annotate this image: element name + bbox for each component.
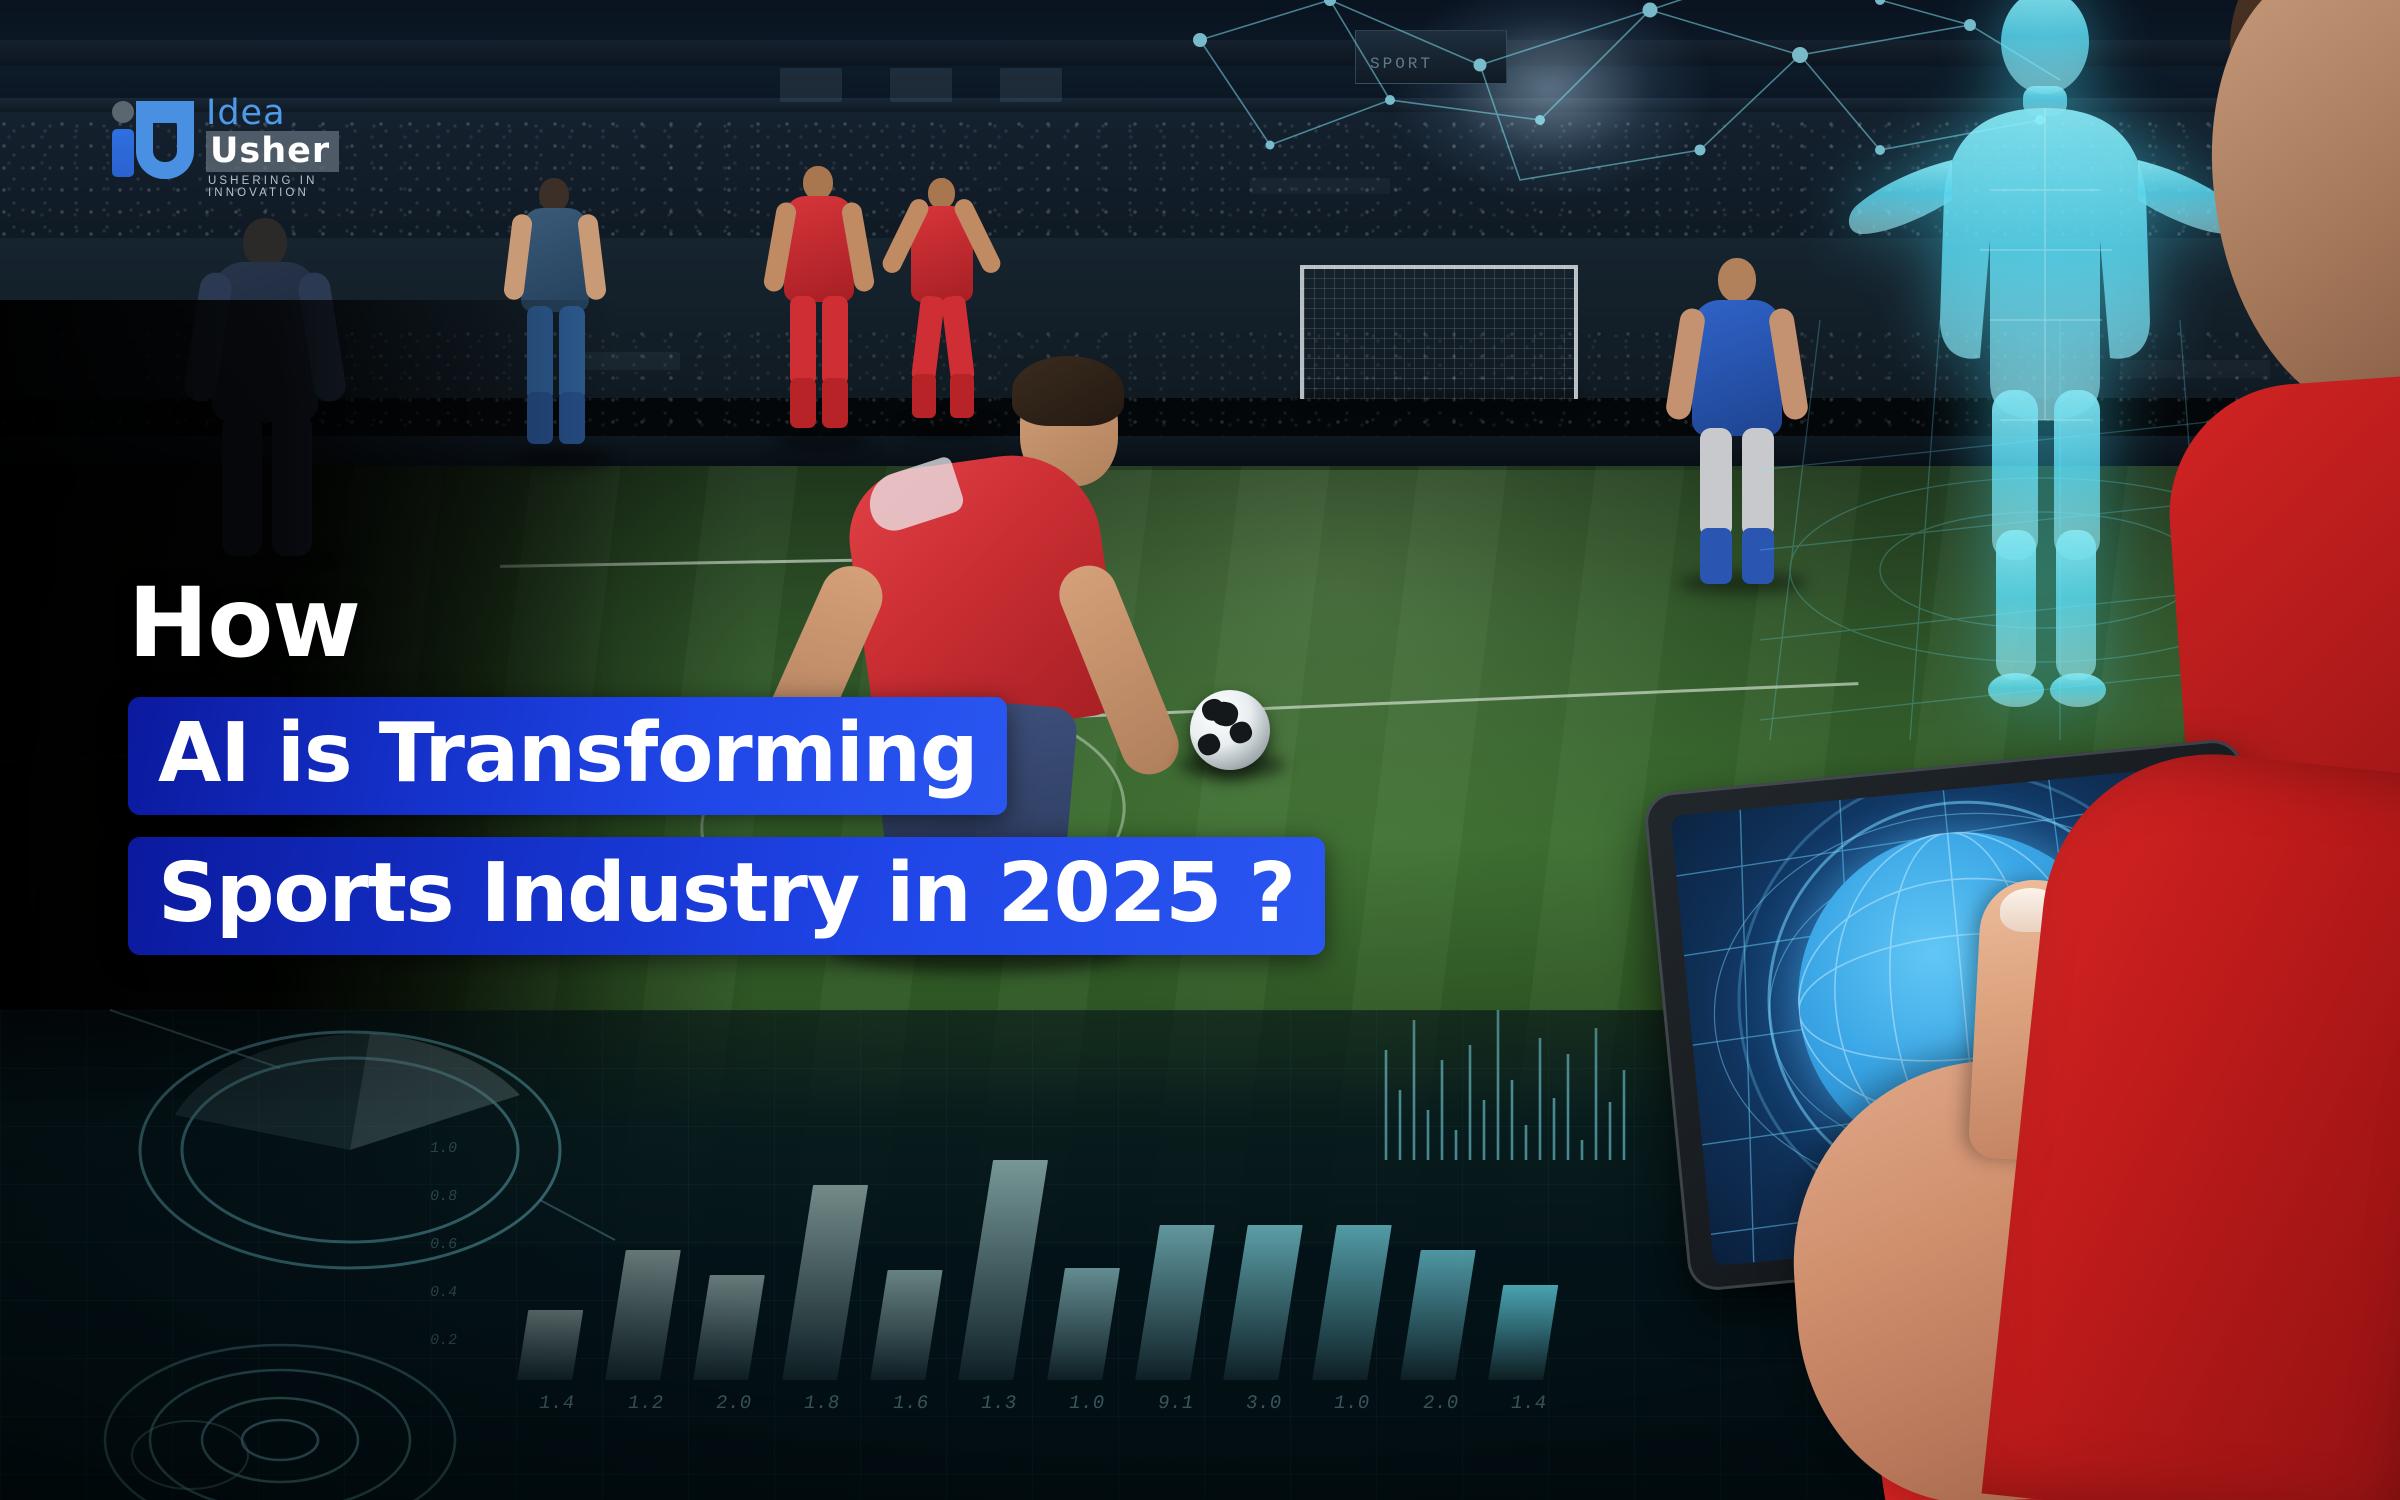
brand-logo[interactable]: Idea Usher USHERING IN INNOVATION xyxy=(110,95,380,177)
logo-i-stem xyxy=(112,129,134,177)
stand-sign-b xyxy=(890,68,952,102)
stand-sign-a xyxy=(780,68,842,102)
stand-sign-c xyxy=(1000,68,1062,102)
headline-line-1: How xyxy=(128,575,1468,671)
iu-logomark-icon xyxy=(110,101,196,173)
brand-tagline: USHERING IN INNOVATION xyxy=(208,175,380,199)
logo-i-dot xyxy=(112,101,134,123)
brand-name-line1: Idea xyxy=(206,95,380,131)
headline-highlight-2: AI is Transforming xyxy=(128,697,1007,815)
headline-block: How AI is Transforming Sports Industry i… xyxy=(128,575,1468,955)
headline-line-3: Sports Industry in 2025 ? xyxy=(158,853,1295,935)
brand-name-line2: Usher xyxy=(206,131,339,172)
headline-highlight-3: Sports Industry in 2025 ? xyxy=(128,837,1325,955)
headline-line-2: AI is Transforming xyxy=(158,713,977,795)
banner-canvas: SPORT xyxy=(0,0,2400,1500)
logo-u-curve xyxy=(136,101,194,179)
headline-line-2-wrap: AI is Transforming xyxy=(128,697,1468,815)
headline-line-3-wrap: Sports Industry in 2025 ? xyxy=(128,837,1468,955)
brand-wordmark: Idea Usher USHERING IN INNOVATION xyxy=(206,95,380,199)
